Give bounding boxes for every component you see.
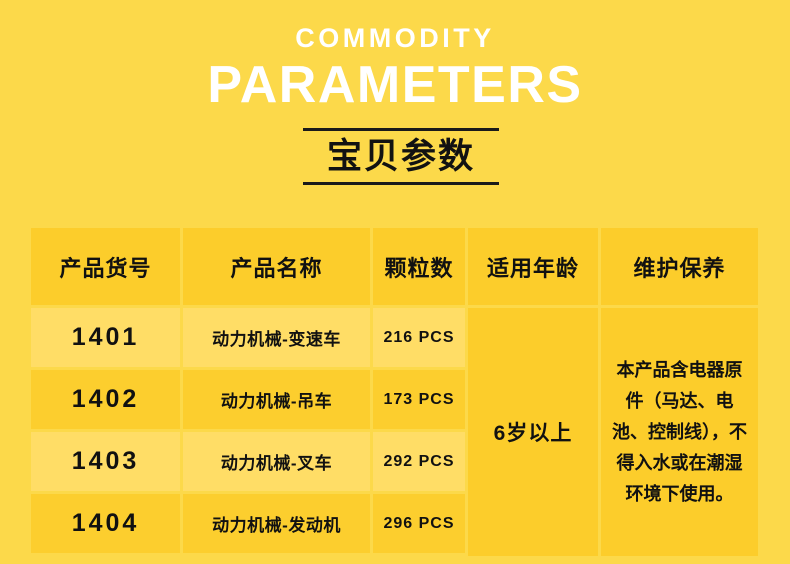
cell-product-code: 1402 (31, 370, 180, 429)
table-header-row: 产品货号 产品名称 颗粒数 适用年龄 维护保养 (31, 228, 758, 305)
cell-product-code: 1404 (31, 494, 180, 553)
product-parameters-page: COMMODITY PARAMETERS 宝贝参数 产品货号 产品名称 颗粒数 … (0, 0, 790, 564)
cell-product-code: 1403 (31, 432, 180, 491)
column-header-maintenance: 维护保养 (601, 228, 758, 305)
cell-piece-count: 173 PCS (373, 370, 465, 429)
page-title-big: PARAMETERS (0, 56, 790, 114)
subtitle-rule-bottom (303, 182, 499, 185)
column-header-piece-count: 颗粒数 (373, 228, 465, 305)
table-row: 1403 动力机械-叉车 292 PCS (31, 432, 465, 491)
table-row: 1404 动力机械-发动机 296 PCS (31, 494, 465, 553)
column-header-product-code: 产品货号 (31, 228, 180, 305)
cell-product-name: 动力机械-叉车 (183, 432, 370, 491)
page-title-block: COMMODITY PARAMETERS (0, 22, 790, 114)
cell-product-name: 动力机械-变速车 (183, 308, 370, 367)
cell-suitable-age-merged: 6岁以上 (468, 308, 598, 556)
cell-product-name: 动力机械-吊车 (183, 370, 370, 429)
cell-piece-count: 292 PCS (373, 432, 465, 491)
table-body-rows: 1401 动力机械-变速车 216 PCS 1402 动力机械-吊车 173 P… (31, 308, 465, 556)
cell-maintenance-merged: 本产品含电器原件（马达、电池、控制线），不得入水或在潮湿环境下使用。 (601, 308, 758, 556)
subtitle-chinese: 宝贝参数 (303, 131, 499, 182)
column-header-suitable-age: 适用年龄 (468, 228, 598, 305)
table-row: 1402 动力机械-吊车 173 PCS (31, 370, 465, 429)
cell-product-name: 动力机械-发动机 (183, 494, 370, 553)
table-row: 1401 动力机械-变速车 216 PCS (31, 308, 465, 367)
page-title-small: COMMODITY (0, 22, 790, 54)
table-body: 1401 动力机械-变速车 216 PCS 1402 动力机械-吊车 173 P… (31, 308, 758, 556)
parameters-table: 产品货号 产品名称 颗粒数 适用年龄 维护保养 1401 动力机械-变速车 21… (31, 228, 758, 556)
subtitle-block: 宝贝参数 (303, 128, 499, 185)
cell-product-code: 1401 (31, 308, 180, 367)
column-header-product-name: 产品名称 (183, 228, 370, 305)
cell-piece-count: 296 PCS (373, 494, 465, 553)
cell-piece-count: 216 PCS (373, 308, 465, 367)
